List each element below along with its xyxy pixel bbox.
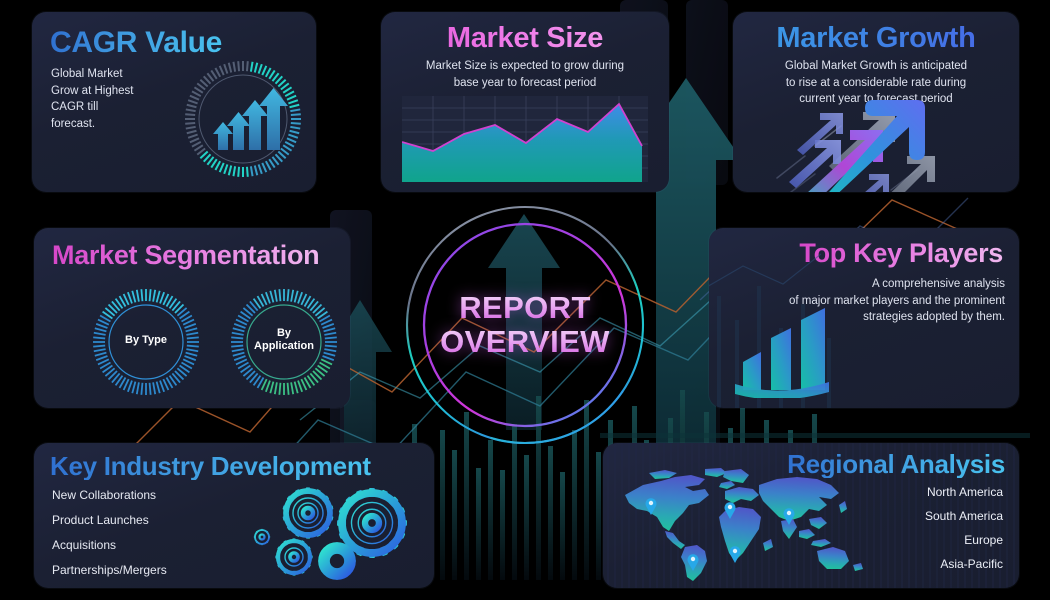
world-map-icon — [613, 465, 867, 583]
segment-label-line: Application — [224, 340, 344, 353]
gears-icon — [232, 475, 422, 583]
report-overview-hub: REPORT OVERVIEW — [403, 203, 647, 447]
segment-by-type[interactable]: By Type — [86, 282, 206, 402]
segment-label-line: By Type — [86, 334, 206, 347]
segment-by-application[interactable]: By Application — [224, 282, 344, 402]
segmentation-title: Market Segmentation — [52, 242, 319, 270]
cagr-body-line: Global Market — [51, 66, 171, 83]
gear — [318, 542, 355, 579]
hub-title-line2: OVERVIEW — [440, 325, 610, 359]
infographic-canvas: REPORT OVERVIEW CAGR Value Global Market… — [0, 0, 1050, 600]
list-item[interactable]: New Collaborations — [52, 488, 167, 502]
map-landmasses — [625, 468, 863, 581]
cagr-body: Global Market Grow at Highest CAGR till … — [51, 66, 171, 133]
rising-arrows-icon — [771, 94, 991, 192]
gear — [275, 538, 312, 575]
list-item[interactable]: Acquisitions — [52, 538, 167, 552]
card-key-industry-development[interactable]: Key Industry Development New Collaborati… — [34, 443, 434, 588]
list-item[interactable]: Europe — [925, 533, 1003, 547]
market-growth-title: Market Growth — [733, 24, 1019, 54]
card-regional-analysis[interactable]: Regional Analysis North America South Am… — [603, 443, 1019, 588]
card-market-growth[interactable]: Market Growth Global Market Growth is an… — [733, 12, 1019, 192]
gear — [254, 529, 270, 545]
list-item[interactable]: Asia-Pacific — [925, 557, 1003, 571]
area-chart-icon — [402, 96, 648, 182]
market-growth-body-line: to rise at a considerable rate during — [743, 75, 1009, 92]
bar-chart-icon — [733, 306, 863, 398]
hub-title: REPORT OVERVIEW — [403, 203, 647, 447]
card-market-segmentation[interactable]: Market Segmentation By Type — [34, 228, 350, 408]
segment-label-by-application: By Application — [224, 327, 344, 353]
segment-label-line: By — [224, 327, 344, 340]
market-growth-body-line: Global Market Growth is anticipated — [743, 58, 1009, 75]
market-size-title: Market Size — [381, 24, 669, 54]
list-item[interactable]: Partnerships/Mergers — [52, 563, 167, 577]
industry-development-list: New Collaborations Product Launches Acqu… — [52, 488, 167, 577]
card-top-key-players[interactable]: Top Key Players A comprehensive analysis… — [709, 228, 1019, 408]
cagr-body-line: CAGR till — [51, 99, 171, 116]
regional-list: North America South America Europe Asia-… — [925, 485, 1003, 571]
segment-label-by-type: By Type — [86, 334, 206, 347]
market-size-body: Market Size is expected to grow during b… — [381, 58, 669, 91]
dial-arrows — [213, 88, 288, 150]
list-item[interactable]: North America — [925, 485, 1003, 499]
card-cagr-value[interactable]: CAGR Value Global Market Grow at Highest… — [32, 12, 316, 192]
card-market-size[interactable]: Market Size Market Size is expected to g… — [381, 12, 669, 192]
gear — [283, 487, 334, 538]
market-size-body-line: base year to forecast period — [381, 75, 669, 92]
background-tick-rail — [600, 433, 1030, 438]
market-size-body-line: Market Size is expected to grow during — [381, 58, 669, 75]
hub-title-line1: REPORT — [459, 291, 591, 325]
growing-arrows-dial-icon — [178, 54, 308, 184]
cagr-body-line: Grow at Highest — [51, 83, 171, 100]
map-pin — [730, 546, 741, 563]
arrow-gray-2 — [881, 156, 935, 192]
cagr-body-line: forecast. — [51, 116, 171, 133]
list-item[interactable]: Product Launches — [52, 513, 167, 527]
list-item[interactable]: South America — [925, 509, 1003, 523]
